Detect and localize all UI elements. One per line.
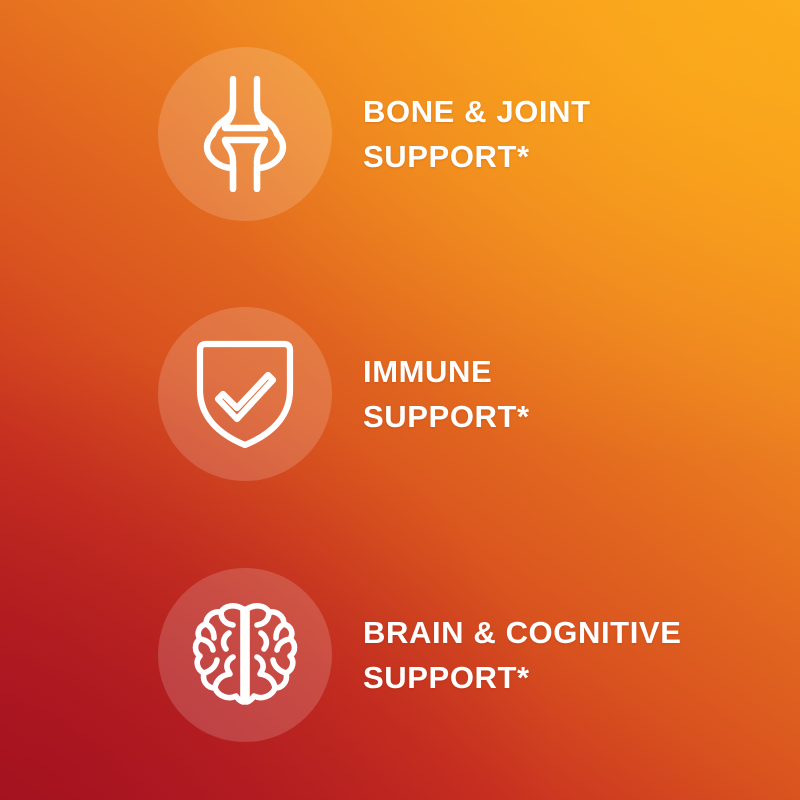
icon-badge-bone-joint [158, 47, 332, 221]
feature-label-brain: BRAIN & COGNITIVE SUPPORT* [363, 610, 682, 700]
feature-label-immune: IMMUNE SUPPORT* [363, 349, 530, 439]
feature-row: BRAIN & COGNITIVE SUPPORT* [0, 568, 800, 742]
brain-icon [189, 599, 301, 711]
icon-badge-brain [158, 568, 332, 742]
feature-row: BONE & JOINT SUPPORT* [0, 47, 800, 221]
bone-joint-icon [193, 76, 297, 192]
feature-label-bone-joint: BONE & JOINT SUPPORT* [363, 89, 591, 179]
feature-list: BONE & JOINT SUPPORT* IMMUNE SUPPORT* [0, 0, 800, 800]
shield-check-icon [192, 338, 298, 450]
feature-row: IMMUNE SUPPORT* [0, 307, 800, 481]
icon-badge-immune [158, 307, 332, 481]
benefits-infographic: BONE & JOINT SUPPORT* IMMUNE SUPPORT* [0, 0, 800, 800]
